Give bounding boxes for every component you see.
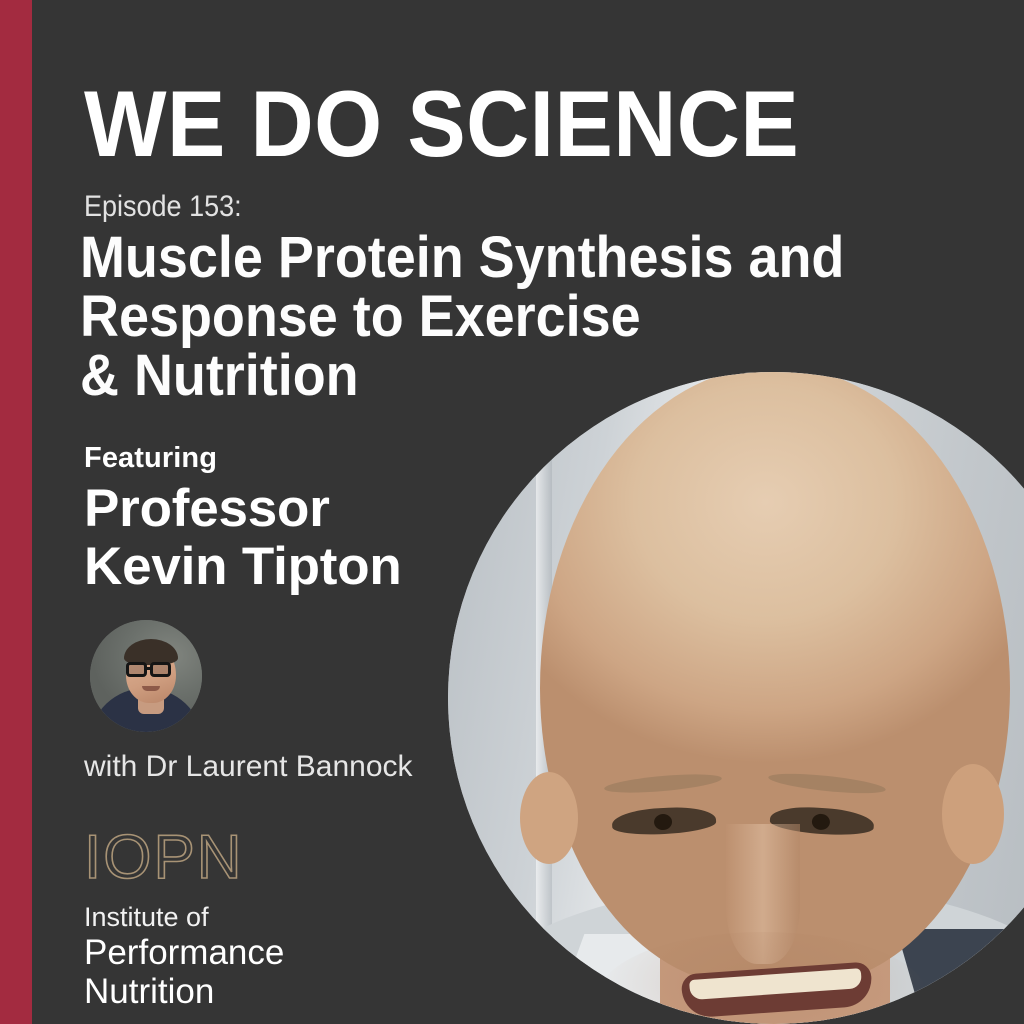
avatar-lens-left [126, 662, 147, 677]
glasses-icon [126, 662, 178, 677]
left-accent-stripe [0, 0, 32, 1024]
iopn-subtitle-line-1: Institute of [84, 902, 284, 933]
episode-title-line-2: Response to Exercise [80, 287, 917, 346]
host-avatar [90, 620, 202, 732]
iopn-logo: IOPN Institute of Performance Nutrition [84, 826, 284, 1011]
iopn-subtitle: Institute of Performance Nutrition [84, 902, 284, 1011]
avatar-mouth [142, 686, 160, 691]
guest-name-line-1: Professor [84, 480, 504, 538]
portrait-ear-left [520, 772, 578, 864]
host-credit: with Dr Laurent Bannock [84, 750, 413, 784]
show-title: WE DO SCIENCE [84, 76, 902, 172]
guest-portrait-photo [448, 372, 1024, 1024]
podcast-cover-art: WE DO SCIENCE Episode 153: Muscle Protei… [0, 0, 1024, 1024]
featuring-label: Featuring [84, 442, 217, 474]
iopn-subtitle-line-3: Nutrition [84, 972, 284, 1011]
portrait-ear-right [942, 764, 1004, 864]
portrait-pupil-right [811, 813, 830, 830]
portrait-pupil-left [654, 814, 673, 831]
avatar-lens-right [150, 662, 171, 677]
guest-name: Professor Kevin Tipton [84, 480, 504, 596]
iopn-subtitle-line-2: Performance [84, 933, 284, 972]
episode-number-label: Episode 153: [84, 190, 242, 224]
iopn-wordmark: IOPN [84, 826, 284, 890]
episode-title-line-1: Muscle Protein Synthesis and [80, 228, 917, 287]
portrait-teeth [689, 968, 862, 1000]
guest-name-line-2: Kevin Tipton [84, 538, 504, 596]
